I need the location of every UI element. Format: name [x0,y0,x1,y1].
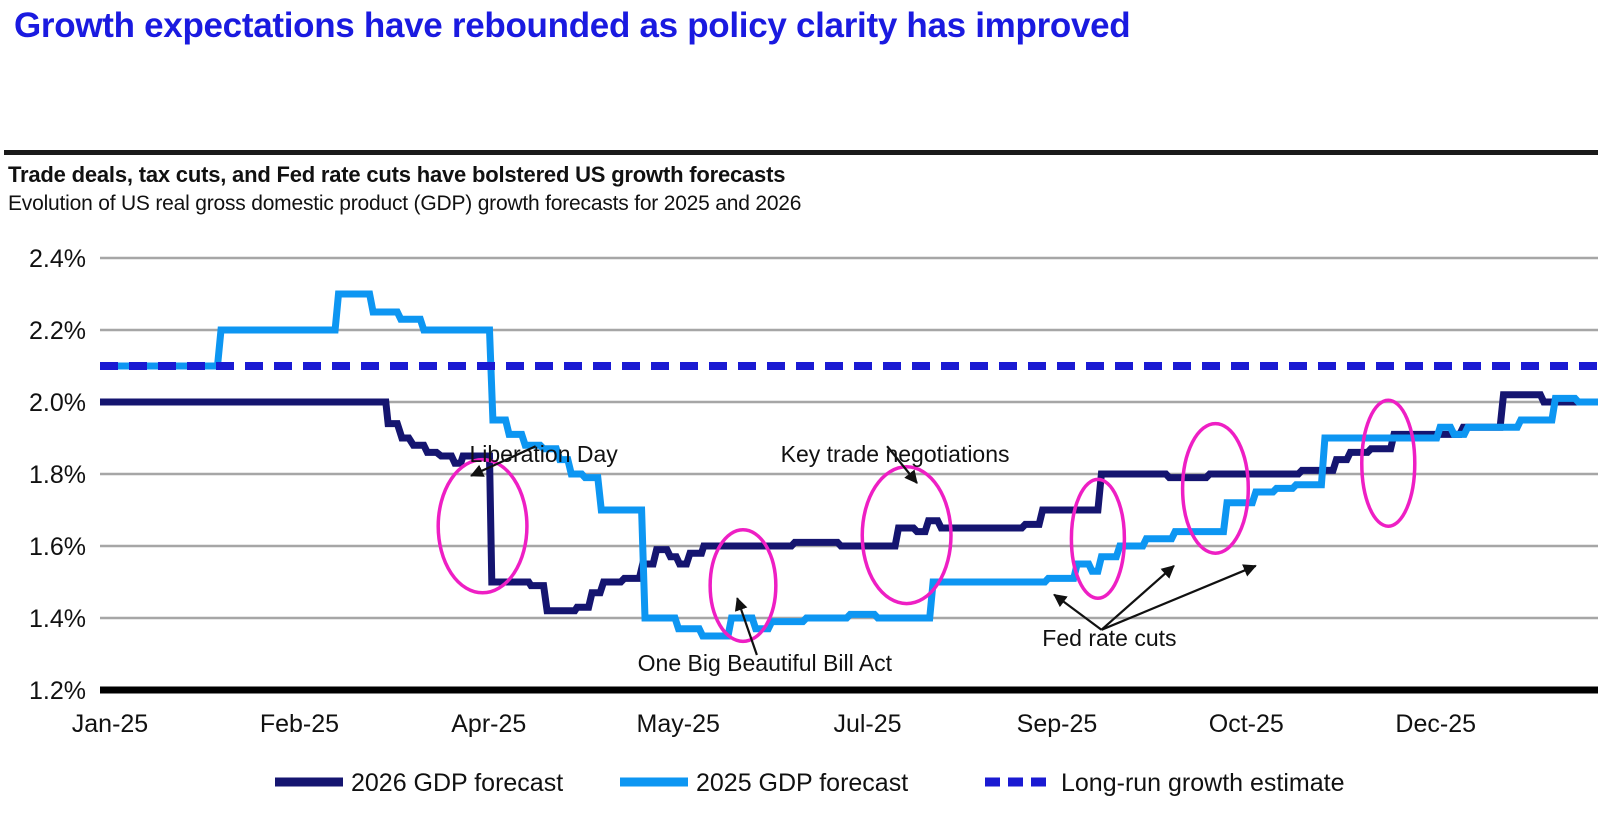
page-headline: Growth expectations have rebounded as po… [14,6,1574,46]
x-axis-tick-label: Jul-25 [833,710,901,738]
y-axis-tick-label: 2.2% [29,317,86,345]
y-axis-tick-label: 1.8% [29,461,86,489]
legend-label: Long-run growth estimate [1061,769,1344,797]
chart-legend: 2026 GDP forecast2025 GDP forecastLong-r… [275,769,1344,797]
chart-container: Trade deals, tax cuts, and Fed rate cuts… [0,150,1606,815]
annotation-arrow [1101,566,1174,630]
x-axis-tick-label: Jan-25 [72,710,148,738]
x-axis-tick-label: Sep-25 [1017,710,1098,738]
x-axis-tick-label: May-25 [637,710,720,738]
legend-label: 2026 GDP forecast [351,769,563,797]
x-axis-tick-label: Dec-25 [1395,710,1476,738]
legend-label: 2025 GDP forecast [696,769,908,797]
annotation-label: Fed rate cuts [1042,625,1176,651]
series-line-2026 [100,395,1598,611]
y-axis-tick-label: 2.0% [29,389,86,417]
annotation-label: Key trade negotiations [781,441,1010,467]
annotation-label: One Big Beautiful Bill Act [638,650,893,676]
x-axis-tick-label: Apr-25 [451,710,526,738]
highlight-ellipse [862,467,951,604]
x-axis-tick-label: Oct-25 [1209,710,1284,738]
annotation-arrow [1101,566,1255,630]
y-axis-tick-label: 2.4% [29,245,86,273]
annotation-label: Liberation Day [469,441,618,467]
x-axis-ticks: Jan-25Feb-25Apr-25May-25Jul-25Sep-25Oct-… [72,710,1476,738]
y-axis-tick-label: 1.2% [29,677,86,705]
y-axis-ticks: 2.4%2.2%2.0%1.8%1.6%1.4%1.2% [29,245,86,705]
chart-plot: 2.4%2.2%2.0%1.8%1.6%1.4%1.2% Jan-25Feb-2… [0,150,1606,815]
y-axis-tick-label: 1.4% [29,605,86,633]
x-axis-tick-label: Feb-25 [260,710,339,738]
y-axis-tick-label: 1.6% [29,533,86,561]
highlight-ellipse [1362,400,1415,526]
highlight-ellipse [438,460,527,593]
